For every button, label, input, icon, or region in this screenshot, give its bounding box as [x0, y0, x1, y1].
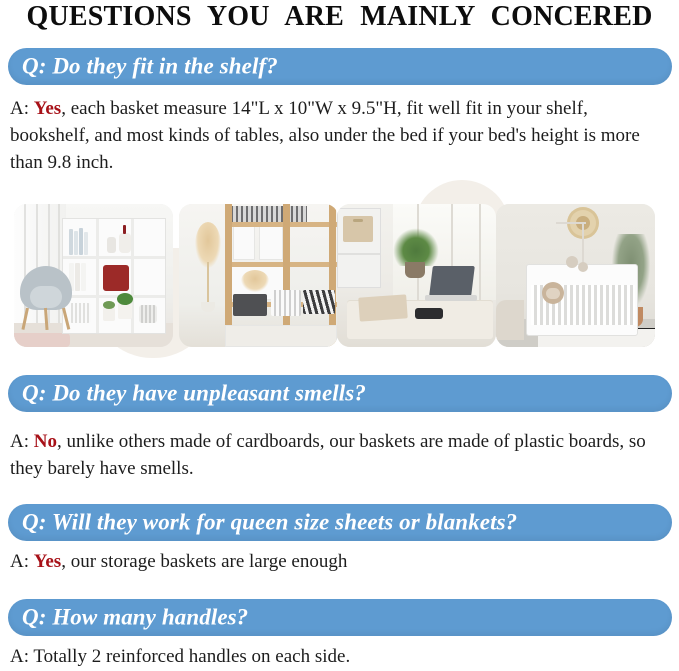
photo-strip — [0, 176, 679, 362]
faq-question-text-1: Q: Do they fit in the shelf? — [22, 53, 278, 79]
faq-answer-prefix-3: A: — [10, 551, 34, 572]
faq-question-bar-2: Q: Do they have unpleasant smells? — [8, 375, 672, 412]
lifestyle-photo-bunkbed — [179, 204, 338, 347]
faq-page: QUESTIONS YOU ARE MAINLY CONCERED Q: Do … — [0, 0, 679, 671]
faq-answer-2: A: No, unlike others made of cardboards,… — [10, 428, 672, 482]
faq-answer-rest-3: , our storage baskets are large enough — [61, 551, 347, 572]
faq-answer-rest-2: , unlike others made of cardboards, our … — [10, 431, 646, 479]
faq-question-bar-1: Q: Do they fit in the shelf? — [8, 48, 672, 85]
faq-question-text-2: Q: Do they have unpleasant smells? — [22, 380, 366, 406]
faq-answer-prefix-1: A: — [10, 98, 34, 119]
faq-question-bar-3: Q: Will they work for queen size sheets … — [8, 504, 672, 541]
faq-question-text-3: Q: Will they work for queen size sheets … — [22, 509, 517, 535]
faq-question-text-4: Q: How many handles? — [22, 604, 248, 630]
faq-answer-highlight-3: Yes — [34, 551, 61, 572]
faq-answer-prefix-2: A: — [10, 431, 34, 452]
lifestyle-photo-bookshelf — [14, 204, 173, 347]
faq-answer-3: A: Yes, our storage baskets are large en… — [10, 548, 672, 575]
lifestyle-photo-desk — [337, 204, 496, 347]
faq-answer-highlight-2: No — [34, 431, 57, 452]
faq-question-bar-4: Q: How many handles? — [8, 599, 672, 636]
faq-answer-rest-1: , each basket measure 14"L x 10"W x 9.5"… — [10, 98, 640, 173]
faq-answer-4: A: Totally 2 reinforced handles on each … — [10, 643, 672, 670]
faq-answer-1: A: Yes, each basket measure 14"L x 10"W … — [10, 95, 672, 176]
lifestyle-photo-nursery — [496, 204, 655, 347]
page-title: QUESTIONS YOU ARE MAINLY CONCERED — [0, 0, 679, 40]
faq-answer-prefix-4: A: Totally 2 reinforced handles on each … — [10, 646, 350, 667]
faq-answer-highlight-1: Yes — [34, 98, 61, 119]
